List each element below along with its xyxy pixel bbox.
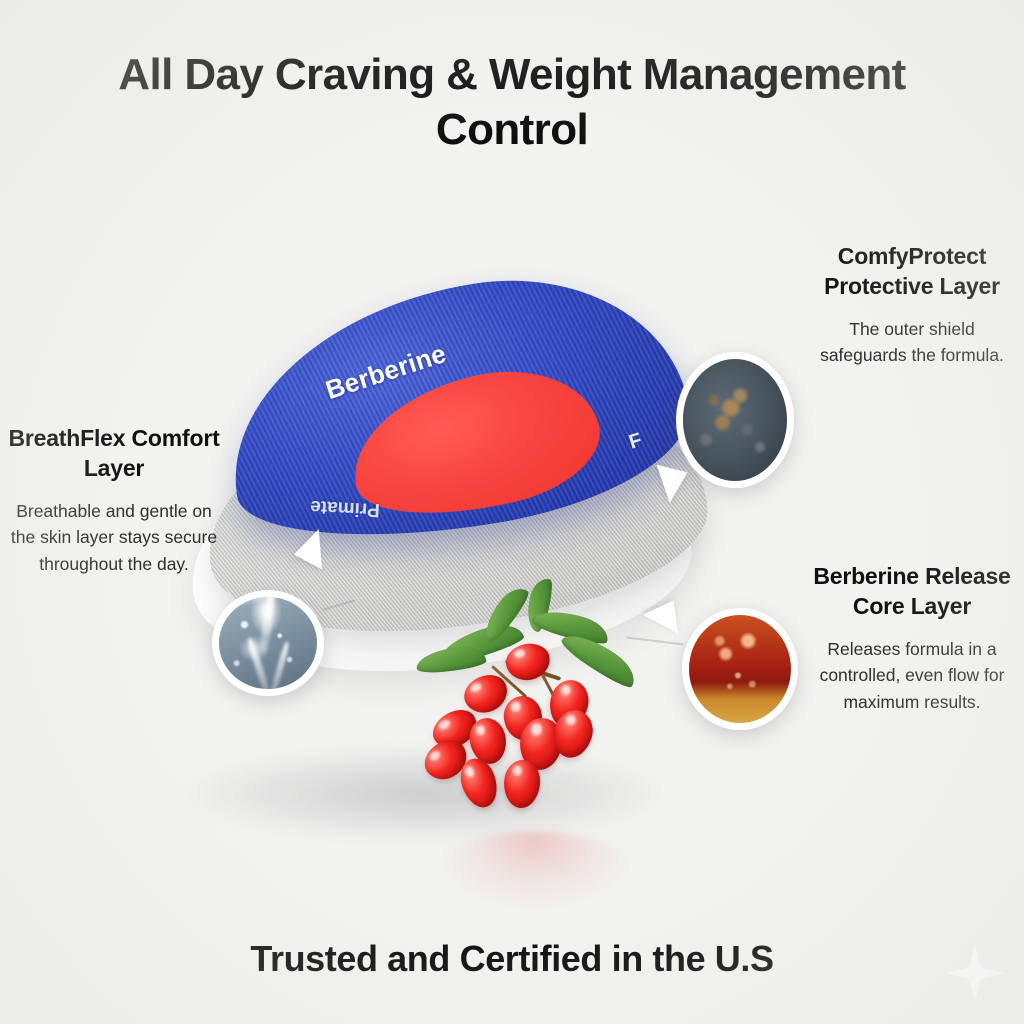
callout-title-comfyprotect: ComfyProtect Protective Layer (808, 242, 1016, 302)
callout-body-comfyprotect: The outer shield safeguards the formula. (808, 316, 1016, 369)
comfyprotect-zoom-bubble[interactable] (676, 352, 794, 488)
vapor-streak (270, 641, 291, 695)
callout-body-berberine: Releases formula in a controlled, even f… (808, 636, 1016, 716)
leaf-icon (415, 644, 487, 674)
breathflex-zoom-bubble[interactable] (212, 590, 324, 696)
breathability-texture (219, 597, 317, 689)
callout-berberine: Berberine Release Core Layer Releases fo… (808, 562, 1016, 716)
release-texture (689, 615, 791, 723)
page-title: All Day Craving & Weight Management Cont… (0, 48, 1024, 157)
callout-title-berberine: Berberine Release Core Layer (808, 562, 1016, 622)
vapor-streak (259, 591, 277, 654)
callout-title-breathflex: BreathFlex Comfort Layer (8, 424, 220, 484)
patch-mark-text: F (626, 429, 644, 455)
berberine-zoom-bubble[interactable] (682, 608, 798, 730)
berry (502, 759, 541, 809)
patch-secondary-text: Primate (310, 495, 381, 521)
callout-body-breathflex: Breathable and gentle on the skin layer … (8, 498, 220, 578)
infographic-canvas: All Day Craving & Weight Management Cont… (0, 0, 1024, 1024)
trust-banner: Trusted and Certified in the U.S (0, 938, 1024, 980)
barberry-cluster (408, 592, 658, 852)
callout-comfyprotect: ComfyProtect Protective Layer The outer … (808, 242, 1016, 369)
shield-texture (683, 359, 787, 481)
callout-breathflex: BreathFlex Comfort Layer Breathable and … (8, 424, 220, 578)
